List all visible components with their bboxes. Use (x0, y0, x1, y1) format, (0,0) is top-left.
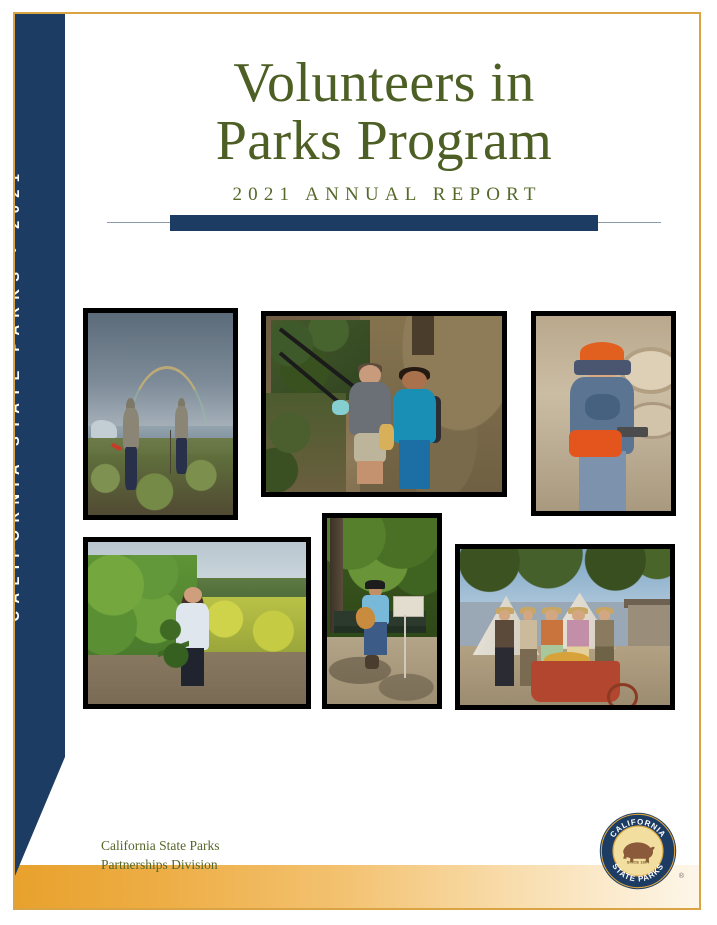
footer-line-2: Partnerships Division (101, 855, 219, 874)
photo-rainbow-coast-image (88, 313, 233, 515)
photo-collage (65, 294, 701, 724)
navy-accent-bar (170, 215, 598, 231)
title-line-1: Volunteers in (233, 52, 534, 114)
title-line-2: Parks Program (65, 112, 701, 170)
page-title: Volunteers in Parks Program (65, 54, 701, 170)
photo-habitat-restoration-image (88, 542, 306, 704)
footer-attribution: California State Parks Partnerships Divi… (101, 836, 219, 874)
photo-rainbow-coast (83, 308, 238, 520)
report-subtitle: 2021 ANNUAL REPORT (65, 184, 701, 206)
footer-line-1: California State Parks (101, 836, 219, 855)
photo-habitat-restoration (83, 537, 311, 709)
report-cover-page: CALIFORNIA STATE PARKS • 2021 Volunteers… (0, 0, 717, 925)
navy-spine-bar: CALIFORNIA STATE PARKS • 2021 (15, 14, 65, 908)
california-state-parks-seal-icon: SINCE 1864 CALIFORNIA STATE PARKS ® (599, 812, 677, 890)
gold-page-border: CALIFORNIA STATE PARKS • 2021 Volunteers… (13, 12, 701, 910)
photo-guitarist-interpreter-image (327, 518, 437, 704)
photo-trail-crew-pair-image (266, 316, 502, 492)
photo-guitarist-interpreter (322, 513, 442, 709)
title-block: Volunteers in Parks Program 2021 ANNUAL … (65, 54, 701, 231)
photo-chainsaw-volunteer-image (536, 316, 671, 511)
title-rule-group (65, 215, 701, 231)
photo-living-history-group (455, 544, 675, 710)
trademark-symbol: ® (679, 873, 684, 880)
photo-trail-crew-pair (261, 311, 507, 497)
photo-living-history-group-image (460, 549, 670, 705)
photo-chainsaw-volunteer (531, 311, 676, 516)
seal-since-text: SINCE 1864 (627, 859, 650, 864)
